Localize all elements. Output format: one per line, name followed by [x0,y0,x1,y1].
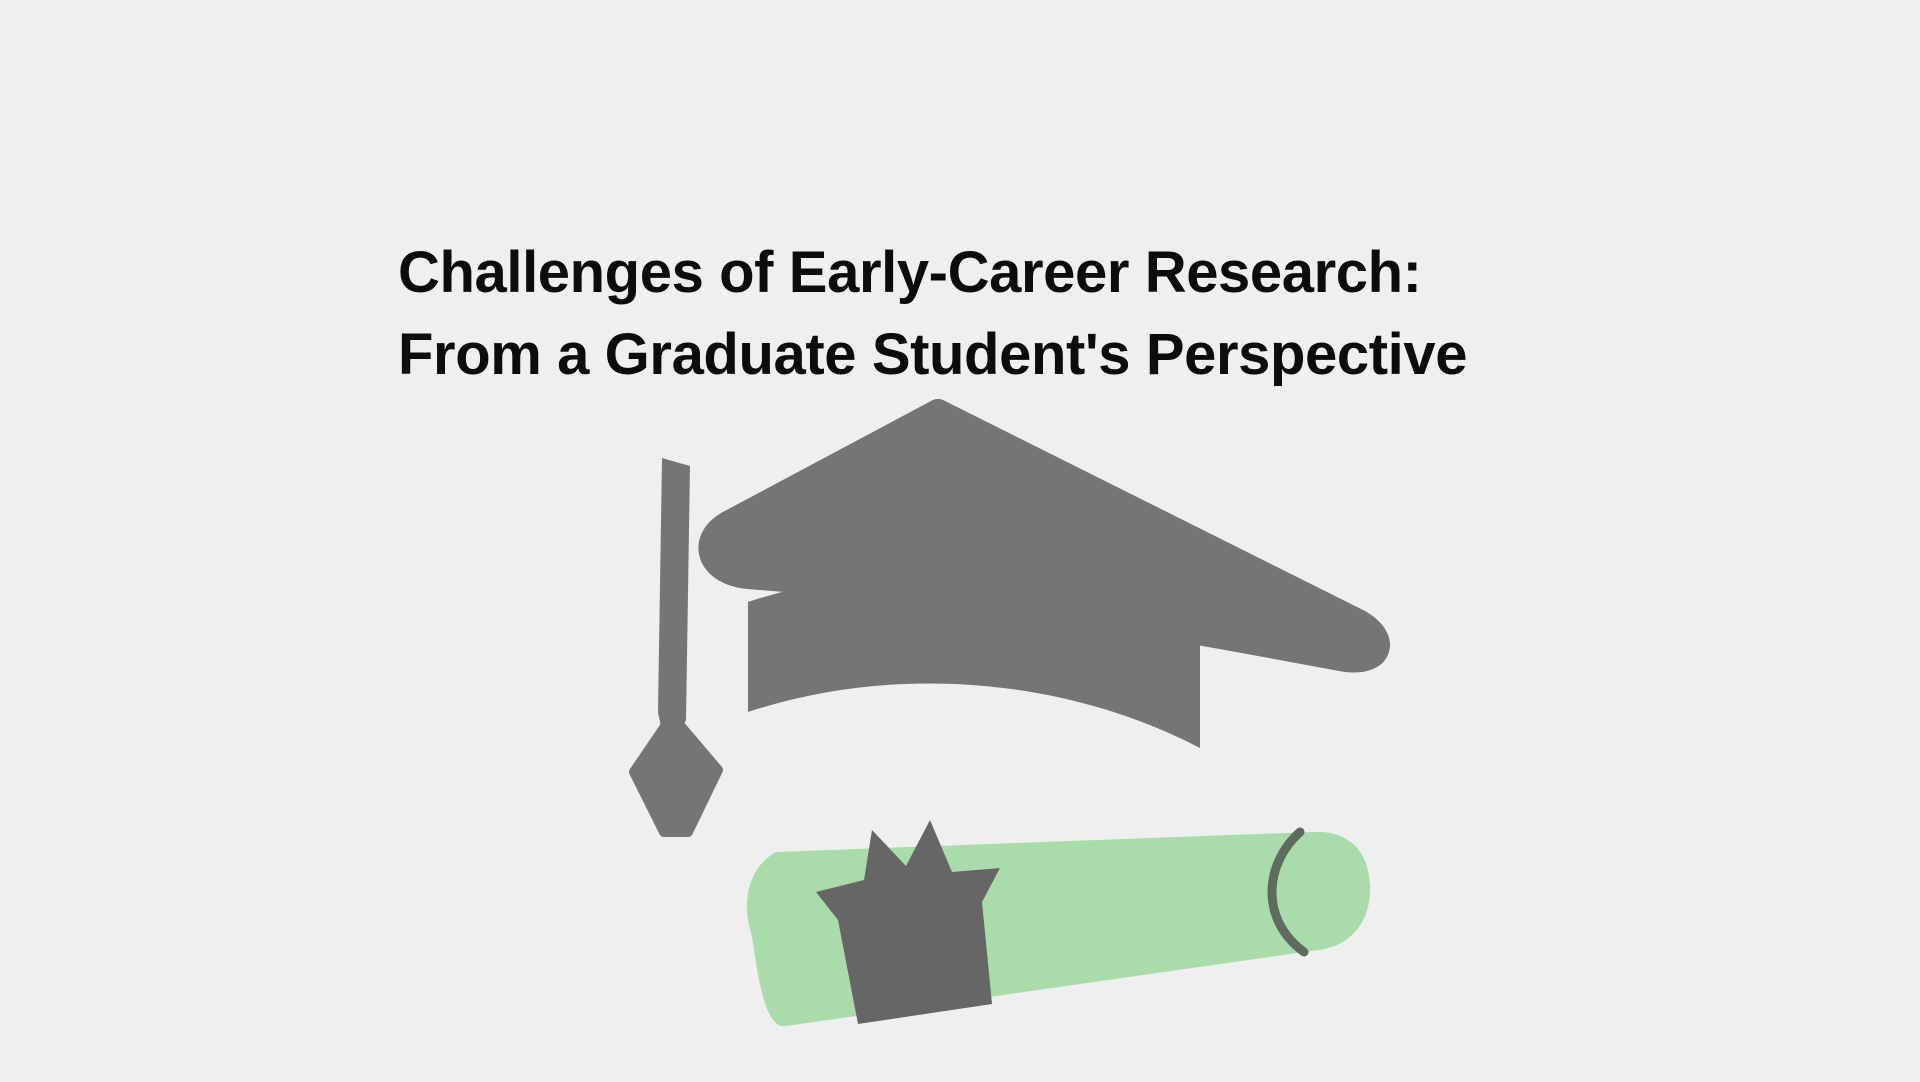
page-title: Challenges of Early-Career Research: Fro… [398,232,1598,396]
slide-canvas: Challenges of Early-Career Research: Fro… [0,0,1920,1082]
tassel-cord-icon [658,458,690,738]
tassel-weight-icon [634,716,718,832]
graduation-cap-and-diploma-illustration [600,380,1400,1040]
title-line-1: Challenges of Early-Career Research: [398,232,1598,314]
